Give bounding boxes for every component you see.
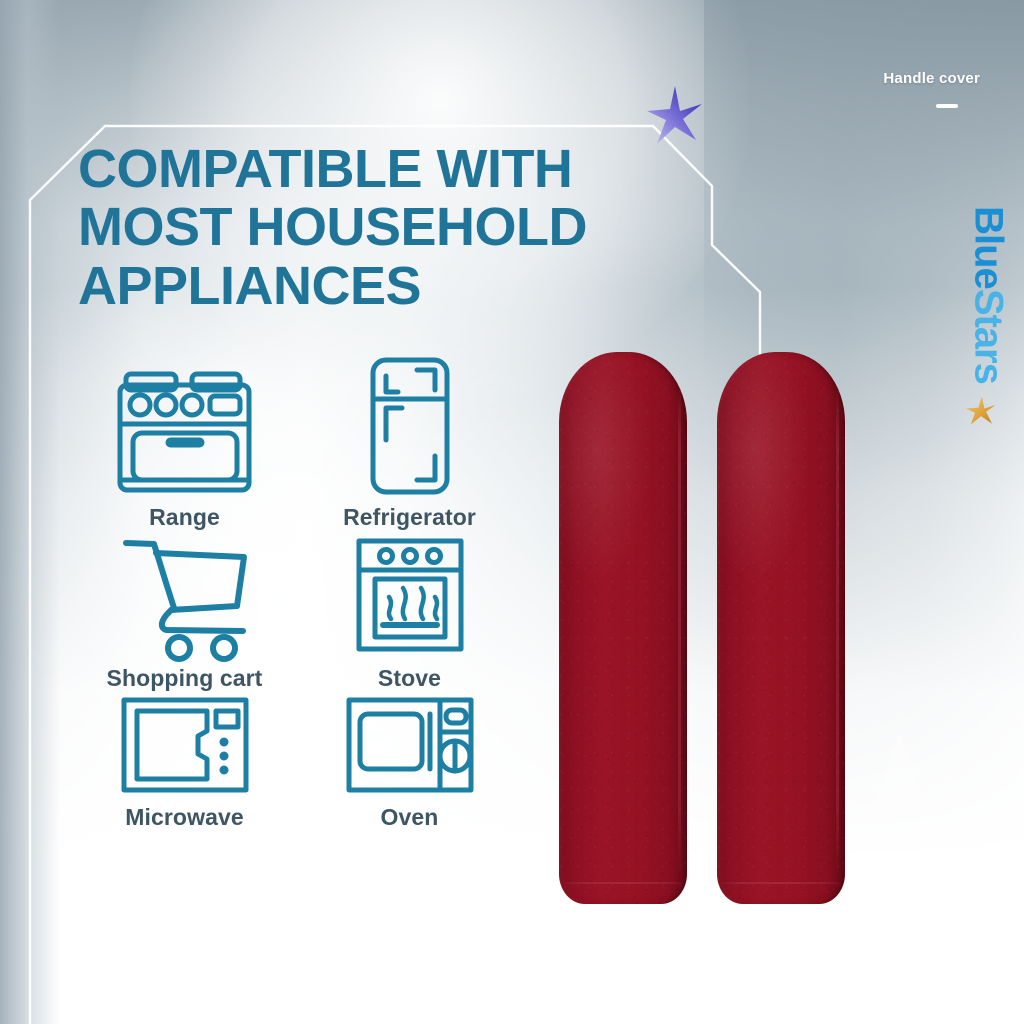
brand-name-part-2: Stars — [967, 289, 1011, 384]
headline-line-2: MOST HOUSEHOLD — [78, 198, 678, 256]
brand-star-icon — [964, 394, 998, 428]
appliance-label: Shopping cart — [72, 665, 297, 692]
appliance-row-3: Microwave Oven — [72, 692, 522, 831]
appliance-item-shopping-cart: Shopping cart — [72, 531, 297, 692]
product-infographic: COMPATIBLE WITH MOST HOUSEHOLD APPLIANCE… — [0, 0, 1024, 1024]
refrigerator-icon — [297, 352, 522, 502]
headline-line-3: APPLIANCES — [78, 257, 678, 315]
appliance-item-microwave: Microwave — [72, 692, 297, 831]
sparkle-star-icon — [644, 84, 704, 152]
appliance-label: Microwave — [72, 804, 297, 831]
appliance-item-range: Range — [72, 352, 297, 531]
hem-seam — [563, 882, 683, 884]
headline-line-1: COMPATIBLE WITH — [78, 140, 678, 198]
oven-icon — [297, 692, 522, 802]
page-title: COMPATIBLE WITH MOST HOUSEHOLD APPLIANCE… — [78, 140, 678, 315]
microwave-icon — [72, 692, 297, 802]
product-label: Handle cover — [883, 70, 980, 87]
appliance-item-stove: Stove — [297, 531, 522, 692]
brand-logo: BlueStars — [958, 160, 1018, 430]
fabric-texture — [717, 352, 845, 904]
brand-name-part-1: Blue — [967, 206, 1011, 289]
appliance-label: Oven — [297, 804, 522, 831]
compatible-appliances-grid: Range Refrigerator — [72, 352, 522, 831]
appliance-label: Range — [72, 504, 297, 531]
range-icon — [72, 352, 297, 502]
product-image — [545, 352, 875, 922]
appliance-label: Stove — [297, 665, 522, 692]
stove-icon — [297, 531, 522, 663]
appliance-item-oven: Oven — [297, 692, 522, 831]
appliance-item-refrigerator: Refrigerator — [297, 352, 522, 531]
brand-wordmark: BlueStars — [966, 206, 1011, 384]
handle-cover-right — [717, 352, 845, 904]
fabric-texture — [559, 352, 687, 904]
appliance-label: Refrigerator — [297, 504, 522, 531]
product-label-underline — [936, 104, 958, 108]
handle-cover-left — [559, 352, 687, 904]
hem-seam — [721, 882, 841, 884]
appliance-row-2: Shopping cart — [72, 531, 522, 692]
appliance-row-1: Range Refrigerator — [72, 352, 522, 531]
shopping-cart-icon — [72, 531, 297, 663]
background-left-band — [0, 0, 60, 1024]
